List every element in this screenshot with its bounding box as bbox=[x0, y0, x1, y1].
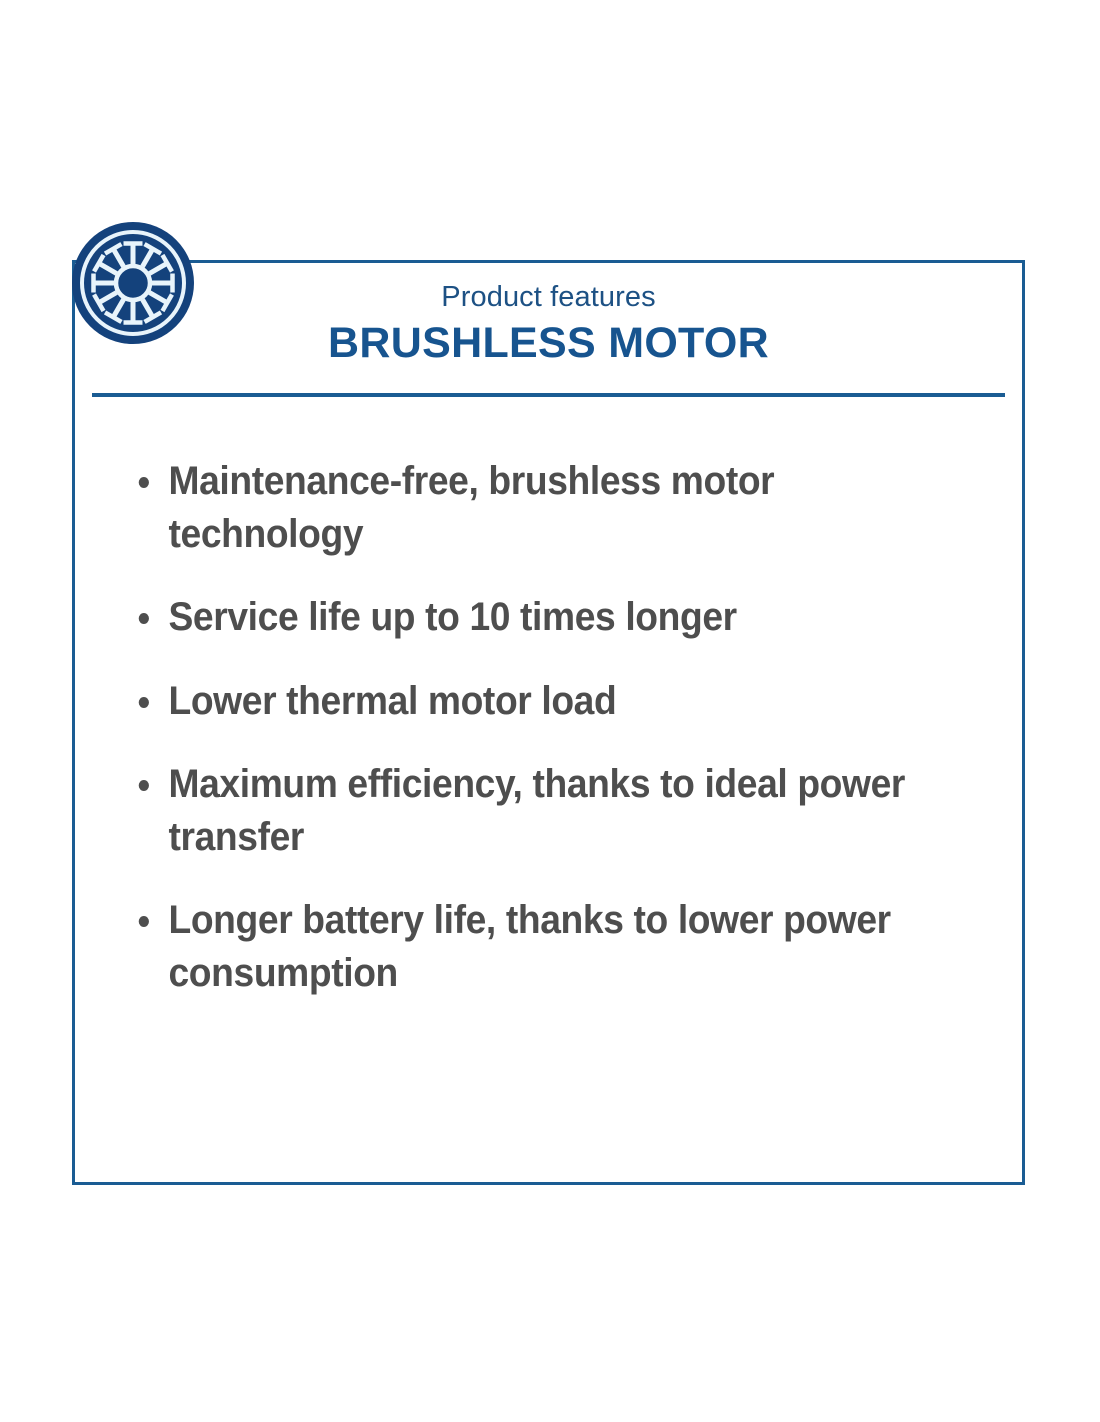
bullet-icon bbox=[139, 780, 149, 791]
list-item: Longer battery life, thanks to lower pow… bbox=[135, 894, 935, 1000]
list-item: Lower thermal motor load bbox=[135, 675, 935, 728]
product-features-card: Product features BRUSHLESS MOTOR Mainten… bbox=[72, 260, 1025, 1185]
bullet-icon bbox=[139, 477, 149, 488]
list-item-label: Maximum efficiency, thanks to ideal powe… bbox=[168, 758, 934, 864]
bullet-icon bbox=[139, 916, 149, 927]
page-title: BRUSHLESS MOTOR bbox=[75, 321, 1022, 366]
bullet-icon bbox=[139, 613, 149, 624]
brushless-motor-rotor-icon bbox=[71, 221, 195, 345]
bullet-icon bbox=[139, 697, 149, 708]
list-item-label: Longer battery life, thanks to lower pow… bbox=[168, 894, 934, 1000]
feature-list: Maintenance-free, brushless motor techno… bbox=[135, 455, 995, 1001]
header-divider bbox=[92, 393, 1005, 397]
list-item-label: Service life up to 10 times longer bbox=[168, 591, 934, 644]
list-item-label: Lower thermal motor load bbox=[168, 675, 934, 728]
card-header: Product features BRUSHLESS MOTOR bbox=[75, 263, 1022, 366]
eyebrow-label: Product features bbox=[75, 283, 1022, 312]
list-item-label: Maintenance-free, brushless motor techno… bbox=[168, 455, 934, 561]
list-item: Maintenance-free, brushless motor techno… bbox=[135, 455, 935, 561]
list-item: Service life up to 10 times longer bbox=[135, 591, 935, 644]
list-item: Maximum efficiency, thanks to ideal powe… bbox=[135, 758, 935, 864]
